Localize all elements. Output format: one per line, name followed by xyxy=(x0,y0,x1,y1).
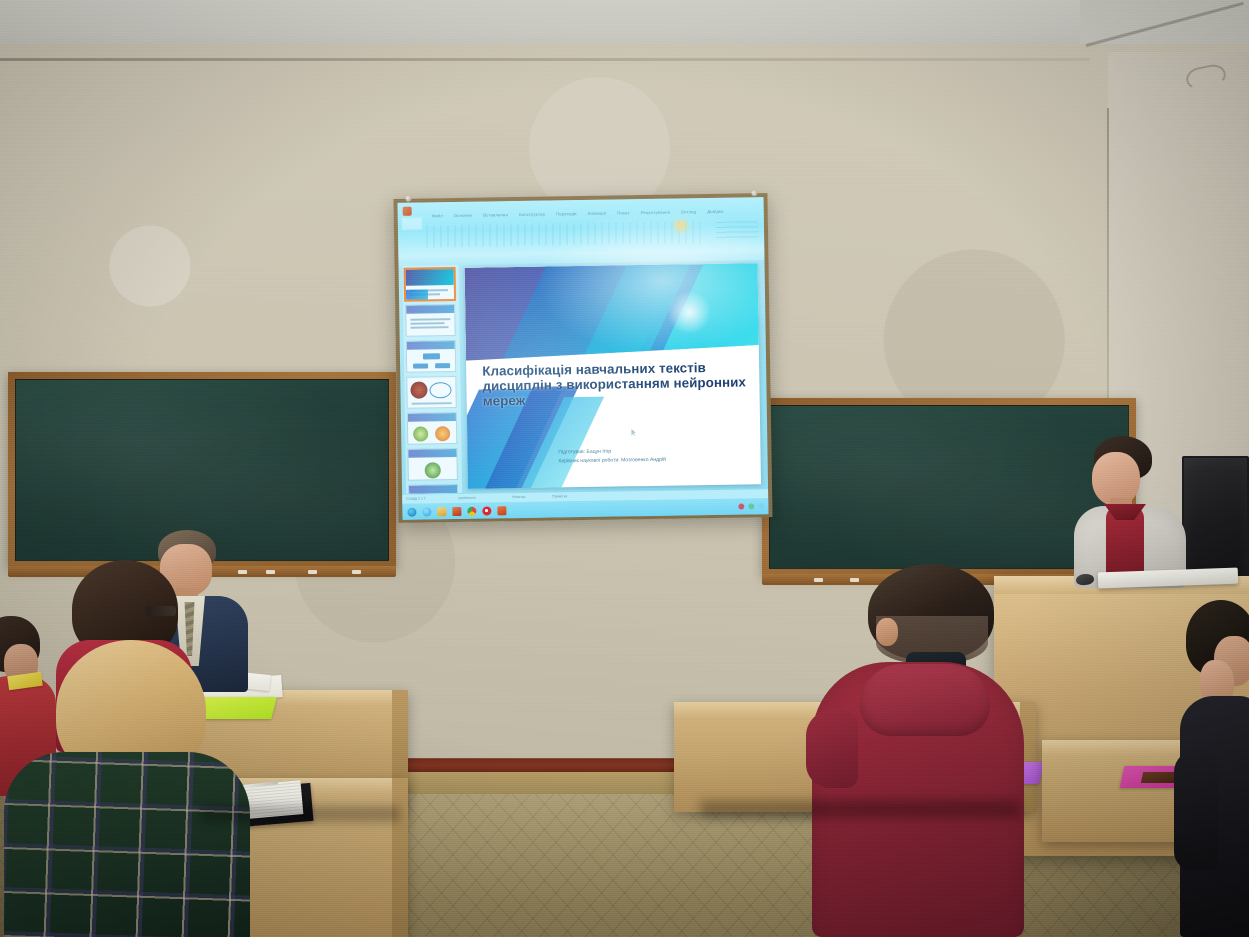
slide-thumbnail[interactable] xyxy=(407,448,457,481)
ribbon-tab[interactable]: Файл xyxy=(432,213,443,218)
ribbon-command-row[interactable] xyxy=(426,221,704,247)
desk-shadow xyxy=(700,800,1020,818)
ribbon-tab-list[interactable]: Файл Основне Вставлення Конструктор Пере… xyxy=(432,209,724,219)
opera-icon[interactable] xyxy=(482,506,491,515)
slide-title: Класифікація навчальних текстів дисциплі… xyxy=(482,361,746,410)
ribbon-tab[interactable]: Показ xyxy=(617,210,630,215)
powerpoint-icon[interactable] xyxy=(497,506,506,515)
ceiling-wall-edge xyxy=(0,58,1090,61)
slide-subtitle-supervisor: Керівник наукової роботи: Мозговенко Анд… xyxy=(558,455,752,468)
slide-counter: Слайд 1 з 7 xyxy=(406,496,425,500)
ribbon-tab[interactable]: Анімація xyxy=(588,211,607,216)
hoodie-student-arm xyxy=(806,710,858,788)
chrome-icon[interactable] xyxy=(467,506,476,515)
comments-button[interactable]: Примітки xyxy=(552,494,567,498)
designer-icon[interactable] xyxy=(672,218,690,236)
ribbon-tab[interactable]: Переходи xyxy=(556,211,577,216)
mount-screw xyxy=(751,190,757,196)
slide-thumbnail[interactable] xyxy=(408,484,458,494)
tray-icon[interactable] xyxy=(738,503,744,509)
desk-side xyxy=(392,778,408,937)
slide-thumbnail[interactable] xyxy=(405,268,455,301)
ribbon-tab[interactable]: Довідка xyxy=(707,209,724,214)
audience-woman-plaid xyxy=(4,640,254,937)
edge-icon[interactable] xyxy=(422,507,431,516)
plaid-woman-jacket xyxy=(4,752,250,937)
ribbon-tab[interactable]: Конструктор xyxy=(519,212,545,217)
media-icon[interactable] xyxy=(452,506,461,515)
desk-shadow xyxy=(200,806,400,822)
classroom-scene: Файл Основне Вставлення Конструктор Пере… xyxy=(0,0,1249,937)
ribbon-tab[interactable]: Основне xyxy=(454,213,472,218)
mouse-cursor-icon xyxy=(631,429,636,436)
file-explorer-icon[interactable] xyxy=(437,507,446,516)
glasses-icon xyxy=(146,606,176,616)
start-icon[interactable] xyxy=(407,507,416,516)
ribbon-tab[interactable]: Вигляд xyxy=(681,209,696,214)
powerpoint-logo-icon xyxy=(403,207,412,216)
projected-desktop: Файл Основне Вставлення Конструктор Пере… xyxy=(398,197,769,520)
chalk-piece xyxy=(266,570,275,574)
chalk-piece xyxy=(308,570,317,574)
ribbon-right-commands[interactable] xyxy=(716,221,758,238)
black-student-arm xyxy=(1174,750,1218,870)
file-tab-button[interactable] xyxy=(402,218,422,230)
hoodie-student-ear xyxy=(876,618,898,646)
tray-icon[interactable] xyxy=(748,503,754,509)
ribbon-tab[interactable]: Вставлення xyxy=(483,212,508,217)
chalk-piece xyxy=(352,570,361,574)
presenter xyxy=(1068,436,1198,586)
slide-thumbnail[interactable] xyxy=(405,304,455,337)
lower-wall-strip xyxy=(390,772,702,794)
slide-thumbnail[interactable] xyxy=(406,340,456,373)
powerpoint-ribbon[interactable]: Файл Основне Вставлення Конструктор Пере… xyxy=(398,197,765,255)
slide-header-graphic xyxy=(465,263,759,360)
active-slide[interactable]: Класифікація навчальних текстів дисциплі… xyxy=(465,263,761,489)
audience-student-hoodie xyxy=(806,560,1046,937)
mount-screw xyxy=(405,196,411,202)
hoodie-student-hood xyxy=(860,664,990,736)
system-tray[interactable] xyxy=(738,503,764,509)
slide-thumbnail[interactable] xyxy=(407,412,457,445)
notes-button[interactable]: Нотатки xyxy=(512,495,525,499)
projection-screen: Файл Основне Вставлення Конструктор Пере… xyxy=(393,193,772,523)
slide-thumbnail[interactable] xyxy=(406,376,456,409)
language-indicator[interactable]: українська xyxy=(458,496,476,500)
slide-subtitle: Підготував: Бацун Ігор Керівник наукової… xyxy=(558,445,752,467)
slide-thumbnail-rail[interactable] xyxy=(403,265,463,494)
audience-student-black xyxy=(1170,600,1249,937)
tray-icon[interactable] xyxy=(758,503,764,509)
ribbon-tab[interactable]: Рецензування xyxy=(641,210,671,215)
